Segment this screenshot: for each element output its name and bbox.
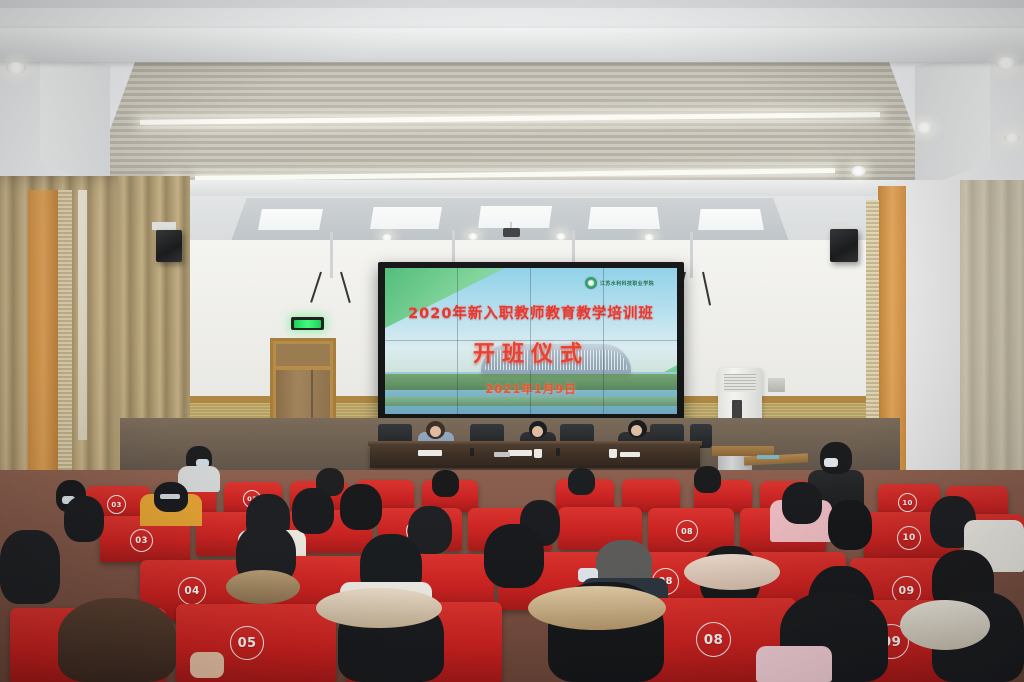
attendee-mask [824, 458, 838, 467]
seat-number: 03 [107, 495, 126, 514]
attendee-fur-collar [316, 588, 442, 628]
seat-number: 10 [897, 526, 921, 550]
attendee-head [782, 482, 822, 524]
attendee-fur-collar [900, 600, 990, 650]
seat-number: 03 [130, 529, 153, 552]
attendee-hand [190, 652, 224, 678]
seat-number: 08 [696, 622, 731, 657]
attendee-head [432, 470, 459, 497]
attendee-head [0, 530, 60, 604]
attendee-head [828, 500, 872, 550]
attendee-head [58, 598, 176, 682]
attendee-head [568, 468, 595, 495]
auditorium-photo: 江苏水利科技职业学院 2020年新入职教师教育教学培训班 开班仪式 2021年1… [0, 0, 1024, 682]
attendee-fur-collar [528, 586, 666, 630]
attendee-head [340, 484, 382, 530]
attendee-head [64, 496, 104, 542]
attendee-glasses [160, 494, 180, 499]
seat-number: 04 [178, 577, 206, 605]
seat-number: 10 [898, 493, 917, 512]
attendee-fur-collar [226, 570, 300, 604]
attendee-head [292, 488, 334, 534]
attendee-fur-collar [684, 554, 780, 590]
seat-number: 05 [230, 626, 264, 660]
seat[interactable]: 08 [648, 508, 734, 552]
seat-number: 08 [676, 520, 698, 542]
attendee-head [484, 524, 544, 588]
attendee-head [694, 466, 721, 493]
attendee-body [756, 646, 832, 682]
